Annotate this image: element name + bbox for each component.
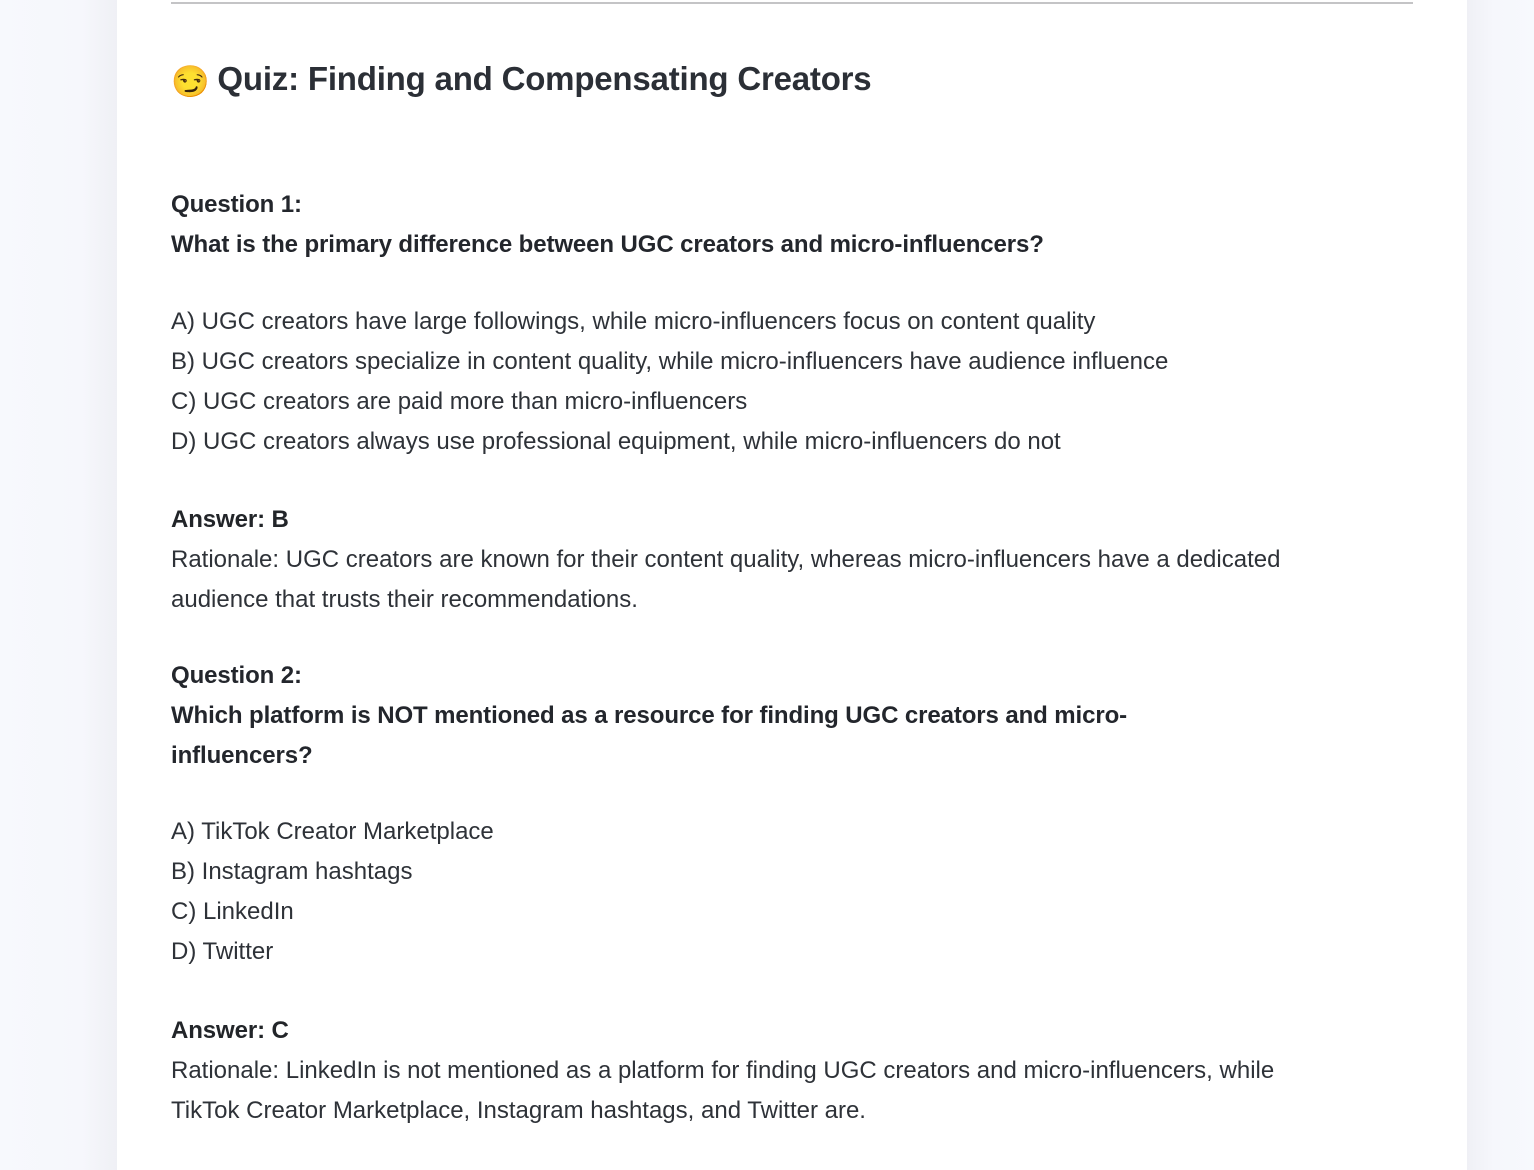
option-item[interactable]: B) UGC creators specialize in content qu… <box>171 342 1386 382</box>
document-card: 😏Quiz: Finding and Compensating Creators… <box>117 0 1467 1170</box>
right-gutter <box>1467 0 1534 1170</box>
question-2-number: Question 2: <box>171 656 1266 696</box>
option-item[interactable]: A) UGC creators have large followings, w… <box>171 302 1386 342</box>
page-title-text: Quiz: Finding and Compensating Creators <box>217 60 871 97</box>
question-1-answer: Answer: B <box>171 500 1366 540</box>
question-2-answer: Answer: C <box>171 1011 1281 1051</box>
left-gutter <box>0 0 117 1170</box>
question-2-rationale: Rationale: LinkedIn is not mentioned as … <box>171 1051 1281 1131</box>
smirking-face-icon: 😏 <box>171 64 209 99</box>
question-1-rationale: Rationale: UGC creators are known for th… <box>171 540 1366 620</box>
question-1-options: A) UGC creators have large followings, w… <box>171 302 1386 462</box>
question-2-options: A) TikTok Creator Marketplace B) Instagr… <box>171 812 1371 972</box>
question-2-prompt: Which platform is NOT mentioned as a res… <box>171 702 1127 769</box>
top-divider <box>171 2 1413 4</box>
option-item[interactable]: D) UGC creators always use professional … <box>171 422 1386 462</box>
question-1-prompt: What is the primary difference between U… <box>171 225 1381 265</box>
option-item[interactable]: C) UGC creators are paid more than micro… <box>171 382 1386 422</box>
option-item[interactable]: D) Twitter <box>171 932 1371 972</box>
option-item[interactable]: C) LinkedIn <box>171 892 1371 932</box>
question-1-number: Question 1: <box>171 185 1381 225</box>
page-title: 😏Quiz: Finding and Compensating Creators <box>171 57 871 104</box>
page-root: 😏Quiz: Finding and Compensating Creators… <box>0 0 1534 1170</box>
option-item[interactable]: B) Instagram hashtags <box>171 852 1371 892</box>
question-1-heading: Question 1: What is the primary differen… <box>171 185 1381 265</box>
option-item[interactable]: A) TikTok Creator Marketplace <box>171 812 1371 852</box>
question-2-heading: Question 2: Which platform is NOT mentio… <box>171 656 1266 776</box>
